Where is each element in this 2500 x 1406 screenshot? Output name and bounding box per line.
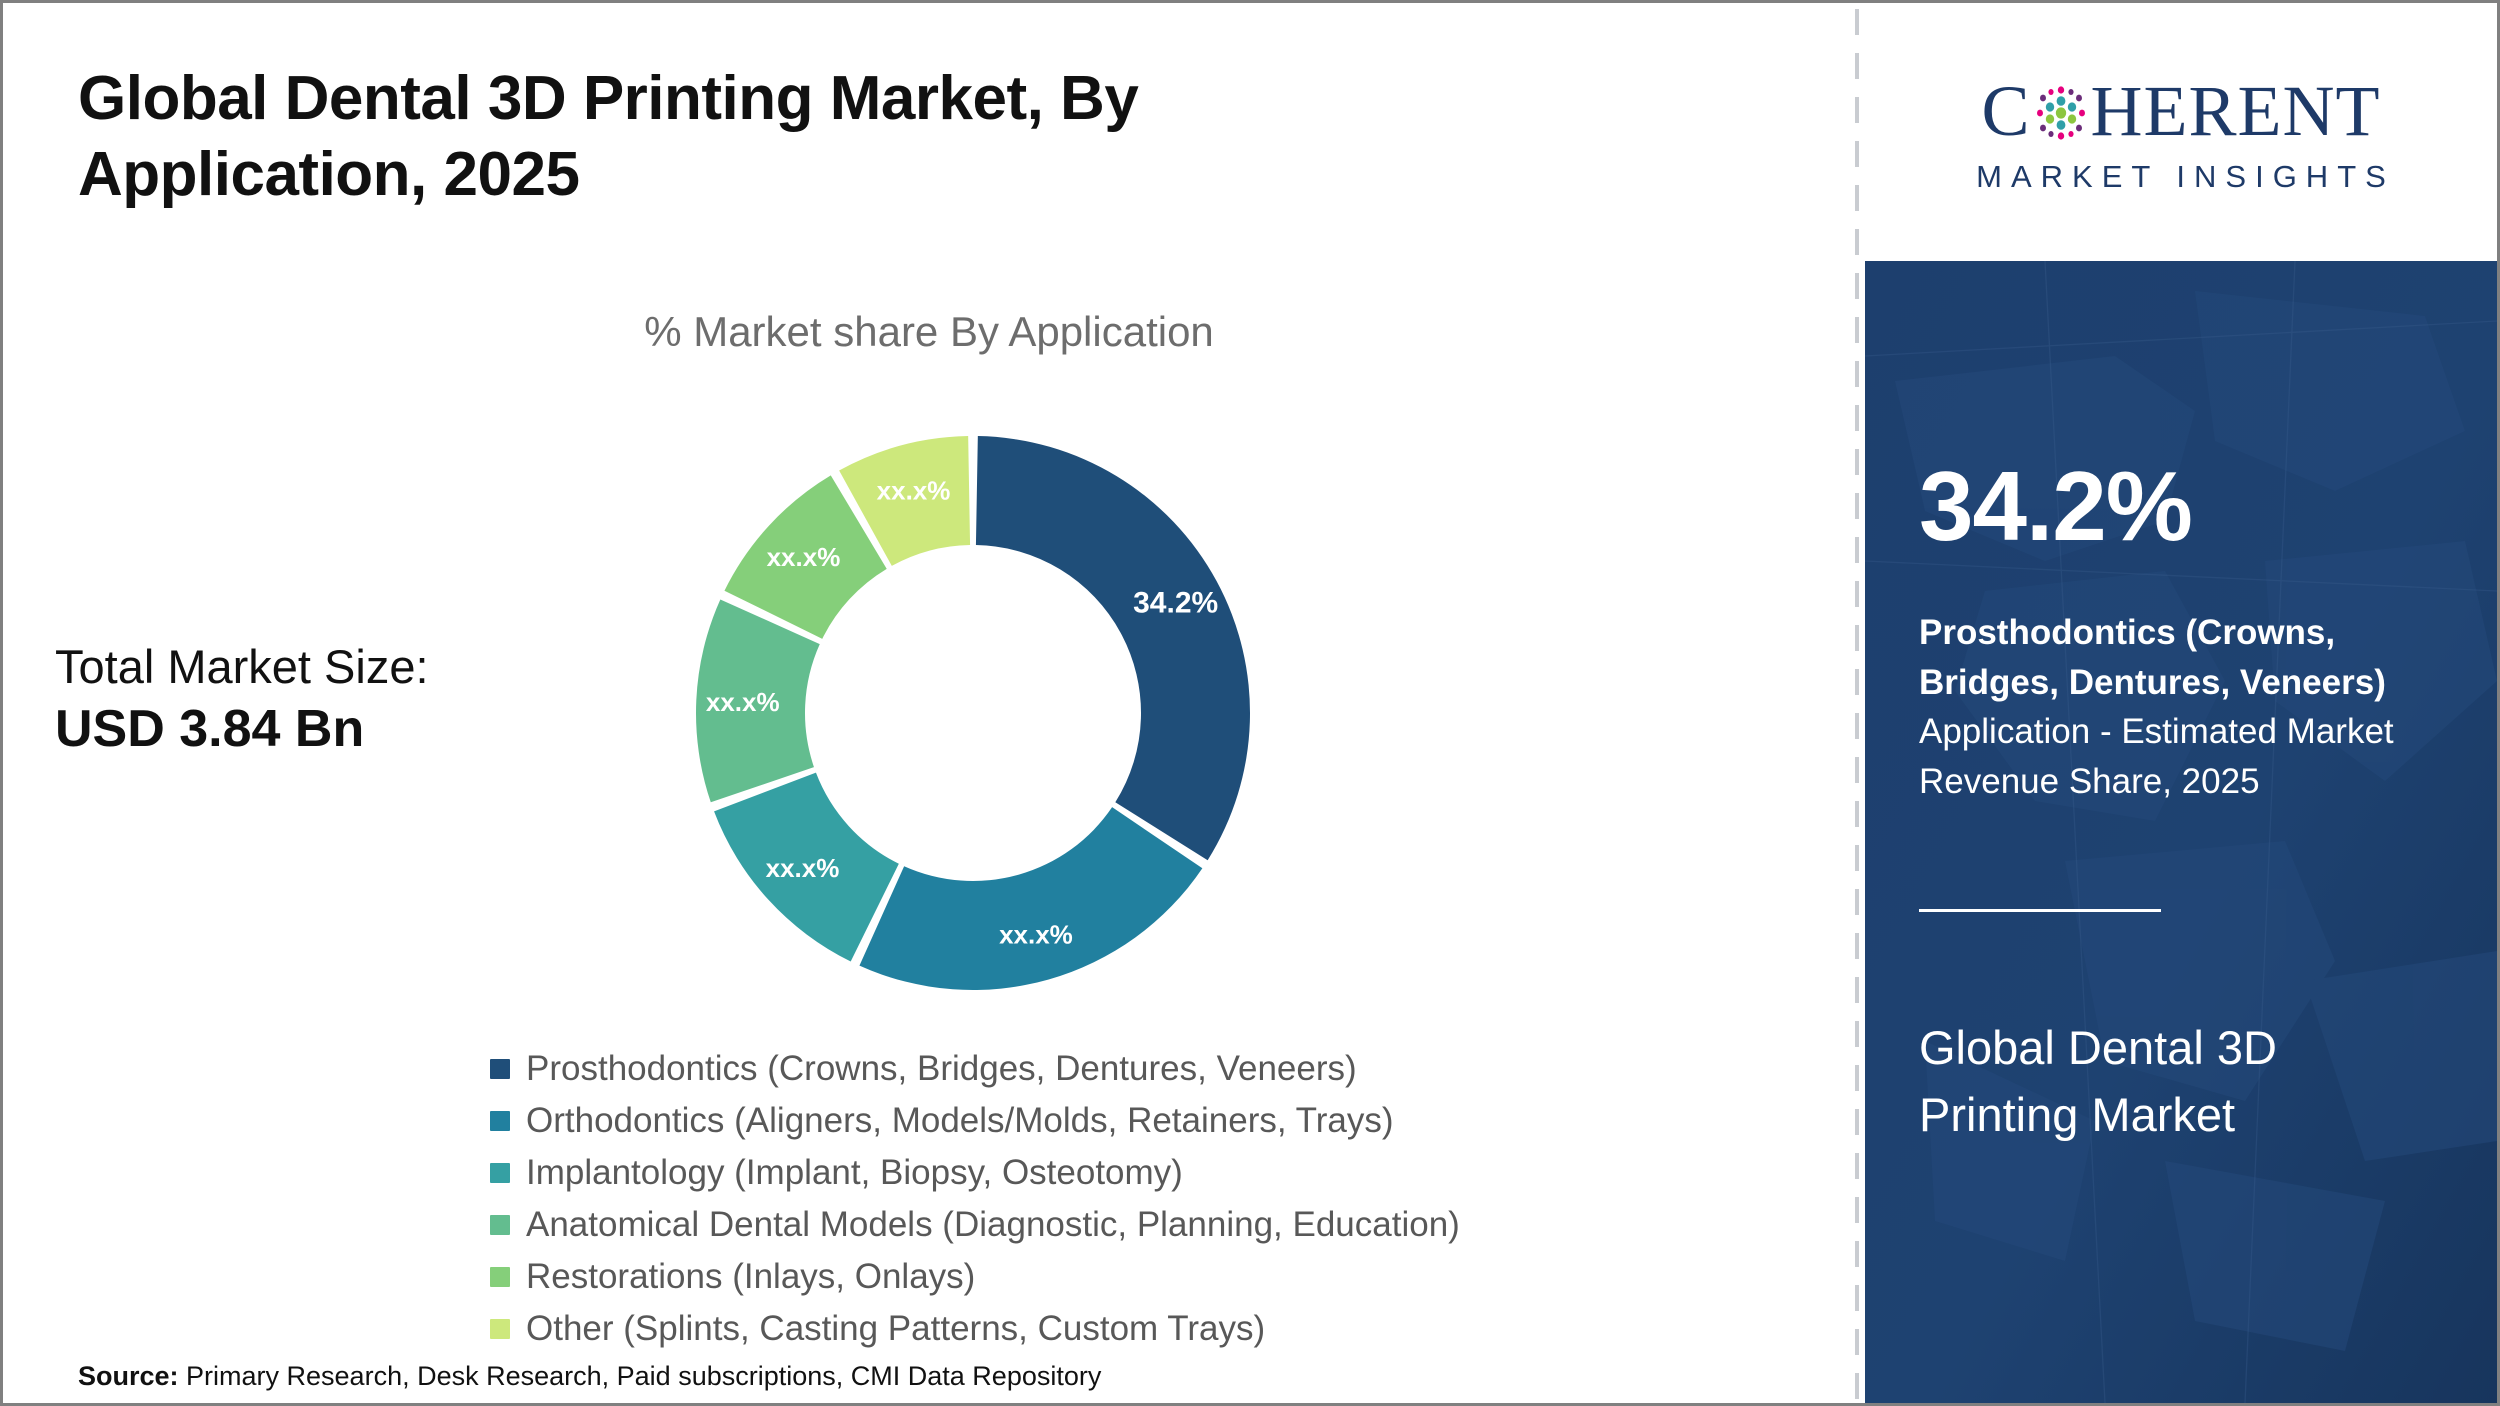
logo-letter-c: C [1982,75,2031,147]
source-value: Primary Research, Desk Research, Paid su… [179,1361,1102,1391]
legend-label: Implantology (Implant, Biopsy, Osteotomy… [526,1153,1183,1193]
total-market-size: Total Market Size: USD 3.84 Bn [55,639,575,762]
donut-slice-label: xx.x% [999,920,1073,950]
legend-label: Restorations (Inlays, Onlays) [526,1257,975,1297]
legend-item[interactable]: Anatomical Dental Models (Diagnostic, Pl… [490,1199,1810,1251]
legend-label: Orthodontics (Aligners, Models/Molds, Re… [526,1101,1394,1141]
donut-slice-label: xx.x% [767,542,841,572]
donut-chart: 34.2%xx.x%xx.x%xx.x%xx.x%xx.x% [663,403,1283,1023]
donut-slice-label: xx.x% [877,475,951,505]
page-title: Global Dental 3D Printing Market, By App… [78,61,1478,212]
market-size-label: Total Market Size: [55,639,575,694]
logo-wordmark: C [1982,69,2381,153]
panel-divider [1855,9,1859,1403]
chart-subtitle: % Market share By Application [3,308,1855,356]
donut-slice[interactable] [976,436,1250,860]
infographic-canvas: Global Dental 3D Printing Market, By App… [0,0,2500,1406]
donut-slice-label: 34.2% [1133,587,1218,620]
chart-legend: Prosthodontics (Crowns, Bridges, Denture… [490,1043,1810,1355]
stat-content: 34.2% Prosthodontics (Crowns, Bridges, D… [1865,261,2497,1403]
legend-item[interactable]: Restorations (Inlays, Onlays) [490,1251,1810,1303]
stat-value: 34.2% [1919,457,2192,555]
legend-label: Anatomical Dental Models (Diagnostic, Pl… [526,1205,1460,1245]
stat-description-rest: Application - Estimated Market Revenue S… [1919,712,2394,801]
globe-dots-icon [2033,82,2089,144]
stat-highlight-panel: 34.2% Prosthodontics (Crowns, Bridges, D… [1865,261,2497,1403]
donut-slice-label: xx.x% [766,853,840,883]
legend-swatch-icon [490,1319,510,1339]
legend-item[interactable]: Prosthodontics (Crowns, Bridges, Denture… [490,1043,1810,1095]
market-size-value: USD 3.84 Bn [55,698,575,761]
legend-item[interactable]: Implantology (Implant, Biopsy, Osteotomy… [490,1147,1810,1199]
legend-swatch-icon [490,1267,510,1287]
stat-divider-rule [1919,909,2161,912]
donut-slice[interactable] [859,807,1202,990]
donut-slice-label: xx.x% [706,687,780,717]
legend-swatch-icon [490,1059,510,1079]
stat-description: Prosthodontics (Crowns, Bridges, Denture… [1919,608,2419,807]
source-label: Source: [78,1361,179,1391]
legend-swatch-icon [490,1111,510,1131]
source-note: Source: Primary Research, Desk Research,… [78,1361,1101,1392]
company-logo: C [1865,3,2497,261]
legend-label: Prosthodontics (Crowns, Bridges, Denture… [526,1049,1357,1089]
legend-swatch-icon [490,1163,510,1183]
logo-tagline: MARKET INSIGHTS [1976,159,2395,195]
legend-item[interactable]: Orthodontics (Aligners, Models/Molds, Re… [490,1095,1810,1147]
legend-swatch-icon [490,1215,510,1235]
legend-item[interactable]: Other (Splints, Casting Patterns, Custom… [490,1303,1810,1355]
brand-sidebar: C [1865,3,2497,1403]
chart-panel: Global Dental 3D Printing Market, By App… [3,3,1855,1403]
logo-letters-herent: HERENT [2091,75,2381,147]
sidebar-market-name: Global Dental 3D Printing Market [1919,1015,2439,1148]
stat-description-bold: Prosthodontics (Crowns, Bridges, Denture… [1919,613,2386,702]
legend-label: Other (Splints, Casting Patterns, Custom… [526,1309,1265,1349]
donut-chart-svg: 34.2%xx.x%xx.x%xx.x%xx.x%xx.x% [663,403,1283,1023]
